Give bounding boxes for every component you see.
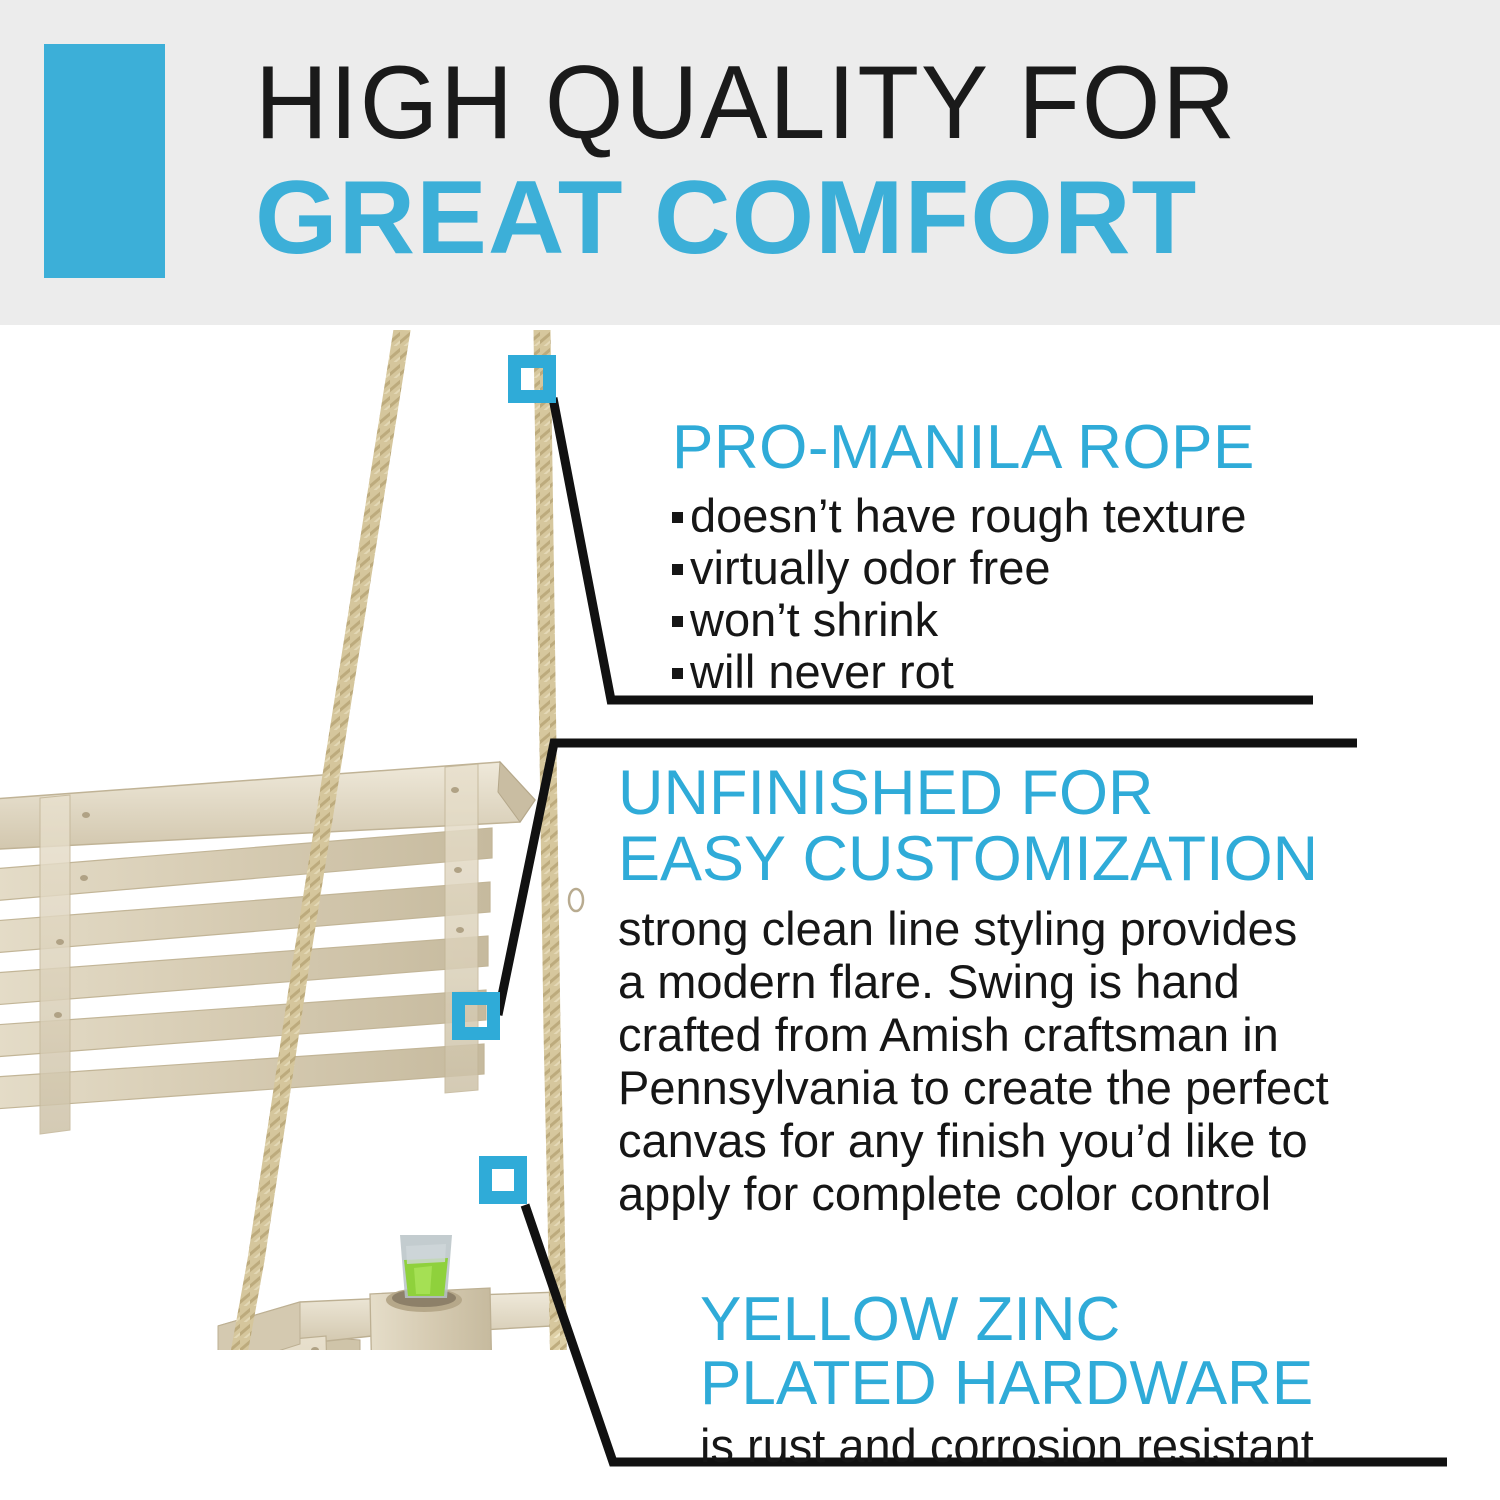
swing-backrest — [0, 762, 535, 1134]
callout-3-body-line-0: is rust and corrosion resistant — [700, 1420, 1460, 1472]
callout-2-body-line-1: a modern flare. Swing is hand — [618, 955, 1428, 1008]
callout-2-body-line-5: apply for complete color control — [618, 1167, 1428, 1220]
infographic-canvas: HIGH QUALITY FOR GREAT COMFORT — [0, 0, 1500, 1500]
callout-1-bullet-3: will never rot — [690, 646, 954, 697]
square-bullet-icon — [672, 668, 683, 679]
callout-3-title-line-2: PLATED HARDWARE — [700, 1352, 1460, 1416]
callout-3-body: is rust and corrosion resistant — [700, 1420, 1460, 1472]
square-bullet-icon — [672, 564, 683, 575]
callout-unfinished-customization: UNFINISHED FOR EASY CUSTOMIZATION strong… — [618, 760, 1428, 1220]
header-line-2: GREAT COMFORT — [255, 158, 1448, 278]
swing-armrest-cupholder — [218, 1235, 560, 1350]
callout-1-bullet-0: doesn’t have rough texture — [690, 490, 1247, 541]
callout-3-title: YELLOW ZINC PLATED HARDWARE — [700, 1288, 1460, 1416]
callout-1-title: PRO-MANILA ROPE — [672, 416, 1255, 480]
header-line-1: HIGH QUALITY FOR — [255, 48, 1390, 158]
callout-2-body-line-2: crafted from Amish craftsman in — [618, 1008, 1428, 1061]
marker-hardware-icon — [479, 1156, 527, 1204]
square-bullet-icon — [672, 512, 683, 523]
list-item: doesn’t have rough texture — [672, 490, 1255, 541]
marker-rope-icon — [508, 355, 556, 403]
callout-2-body-line-4: canvas for any finish you’d like to — [618, 1114, 1428, 1167]
callout-2-body-line-3: Pennsylvania to create the perfect — [618, 1061, 1428, 1114]
callout-1-bullet-1: virtually odor free — [690, 542, 1051, 593]
list-item: won’t shrink — [672, 594, 1255, 645]
callout-2-title-line-1: UNFINISHED FOR — [618, 760, 1428, 826]
callout-3-title-line-1: YELLOW ZINC — [700, 1288, 1460, 1352]
callout-1-bullet-list: doesn’t have rough texture virtually odo… — [672, 490, 1255, 697]
callout-2-body-line-0: strong clean line styling provides — [618, 902, 1428, 955]
product-photo-porch-swing — [0, 330, 640, 1350]
header-banner: HIGH QUALITY FOR GREAT COMFORT — [0, 0, 1500, 325]
list-item: will never rot — [672, 646, 1255, 697]
marker-armrest-icon — [452, 992, 500, 1040]
header-accent-bar — [44, 44, 165, 278]
callout-2-body: strong clean line styling provides a mod… — [618, 902, 1428, 1220]
header-text-group: HIGH QUALITY FOR GREAT COMFORT — [255, 48, 1425, 298]
list-item: virtually odor free — [672, 542, 1255, 593]
square-bullet-icon — [672, 616, 683, 627]
callout-yellow-zinc-hardware: YELLOW ZINC PLATED HARDWARE is rust and … — [700, 1288, 1460, 1472]
callout-pro-manila-rope: PRO-MANILA ROPE doesn’t have rough textu… — [672, 416, 1255, 698]
callout-2-title: UNFINISHED FOR EASY CUSTOMIZATION — [618, 760, 1428, 892]
callout-1-bullet-2: won’t shrink — [690, 594, 938, 645]
callout-2-title-line-2: EASY CUSTOMIZATION — [618, 826, 1428, 892]
